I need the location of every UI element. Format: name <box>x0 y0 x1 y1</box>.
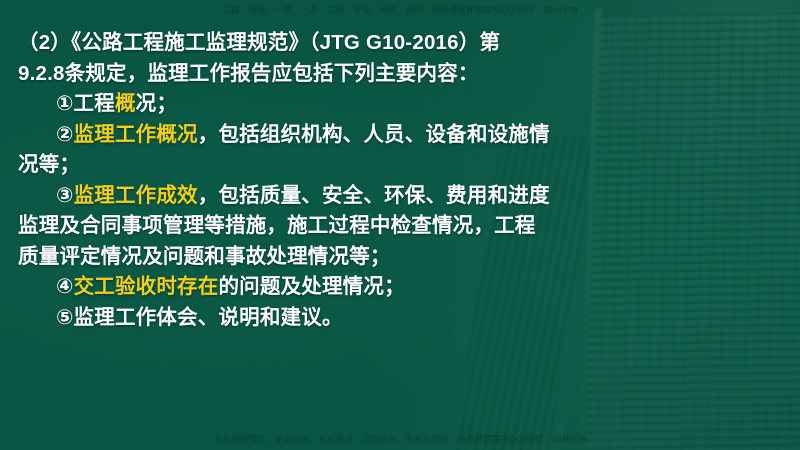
plain-text: （2）《公路工程施工监理规范》（JTG G10-2016）第 <box>18 31 500 54</box>
plain-text: 监理及合同事项管理等措施，施工过程中检查情况，工程 <box>18 214 536 237</box>
presentation-slide: 二建、监理、一建、一造、二造、安全、消防、咨询、检测课程押题联系QQ/微信：38… <box>0 0 800 450</box>
plain-text: 9.2.8条规定，监理工作报告应包括下列主要内容： <box>18 62 479 85</box>
text-line-item-5: ⑤监理工作体会、说明和建议。 <box>0 303 800 334</box>
highlighted-text: 监理工作概况 <box>74 123 198 146</box>
highlighted-text: 交工验收时存在 <box>74 275 219 298</box>
plain-text: 的问题及处理情况； <box>218 275 404 298</box>
text-line-item-4: ④交工验收时存在的问题及处理情况； <box>0 272 800 303</box>
plain-text: 况等； <box>18 153 80 176</box>
plain-text: 况； <box>136 92 177 115</box>
plain-text: ④ <box>56 275 74 298</box>
highlighted-text: 监理工作成效 <box>74 184 198 207</box>
text-line-item-3: ③监理工作成效，包括质量、安全、环保、费用和进度 <box>0 181 800 212</box>
top-watermark-banner: 二建、监理、一建、一造、二造、安全、消防、咨询、检测课程押题联系QQ/微信：38… <box>0 4 800 16</box>
plain-text: ，包括质量、安全、环保、费用和进度 <box>198 184 550 207</box>
text-line-item-2-cont: 况等； <box>0 150 800 181</box>
plain-text: ①工程 <box>56 92 115 115</box>
highlighted-text: 概 <box>115 92 136 115</box>
slide-body-text: （2）《公路工程施工监理规范》（JTG G10-2016）第9.2.8条规定，监… <box>0 28 800 333</box>
bottom-watermark-banner: 名师面授精华、史全内讲、考点串讲、习题模考、考前三页纸、绝密押题联系QQ/微信：… <box>0 433 800 445</box>
text-line-item-3-cont-2: 质量评定情况及问题和事故处理情况等； <box>0 242 800 273</box>
plain-text: ③ <box>56 184 74 207</box>
text-line-item-1: ①工程概况； <box>0 89 800 120</box>
text-line-heading-1: （2）《公路工程施工监理规范》（JTG G10-2016）第 <box>0 28 800 59</box>
plain-text: ，包括组织机构、人员、设备和设施情 <box>198 123 550 146</box>
plain-text: ⑤监理工作体会、说明和建议。 <box>56 306 343 329</box>
text-line-item-2: ②监理工作概况，包括组织机构、人员、设备和设施情 <box>0 120 800 151</box>
plain-text: 质量评定情况及问题和事故处理情况等； <box>18 245 391 268</box>
text-line-heading-2: 9.2.8条规定，监理工作报告应包括下列主要内容： <box>0 59 800 90</box>
text-line-item-3-cont-1: 监理及合同事项管理等措施，施工过程中检查情况，工程 <box>0 211 800 242</box>
plain-text: ② <box>56 123 74 146</box>
